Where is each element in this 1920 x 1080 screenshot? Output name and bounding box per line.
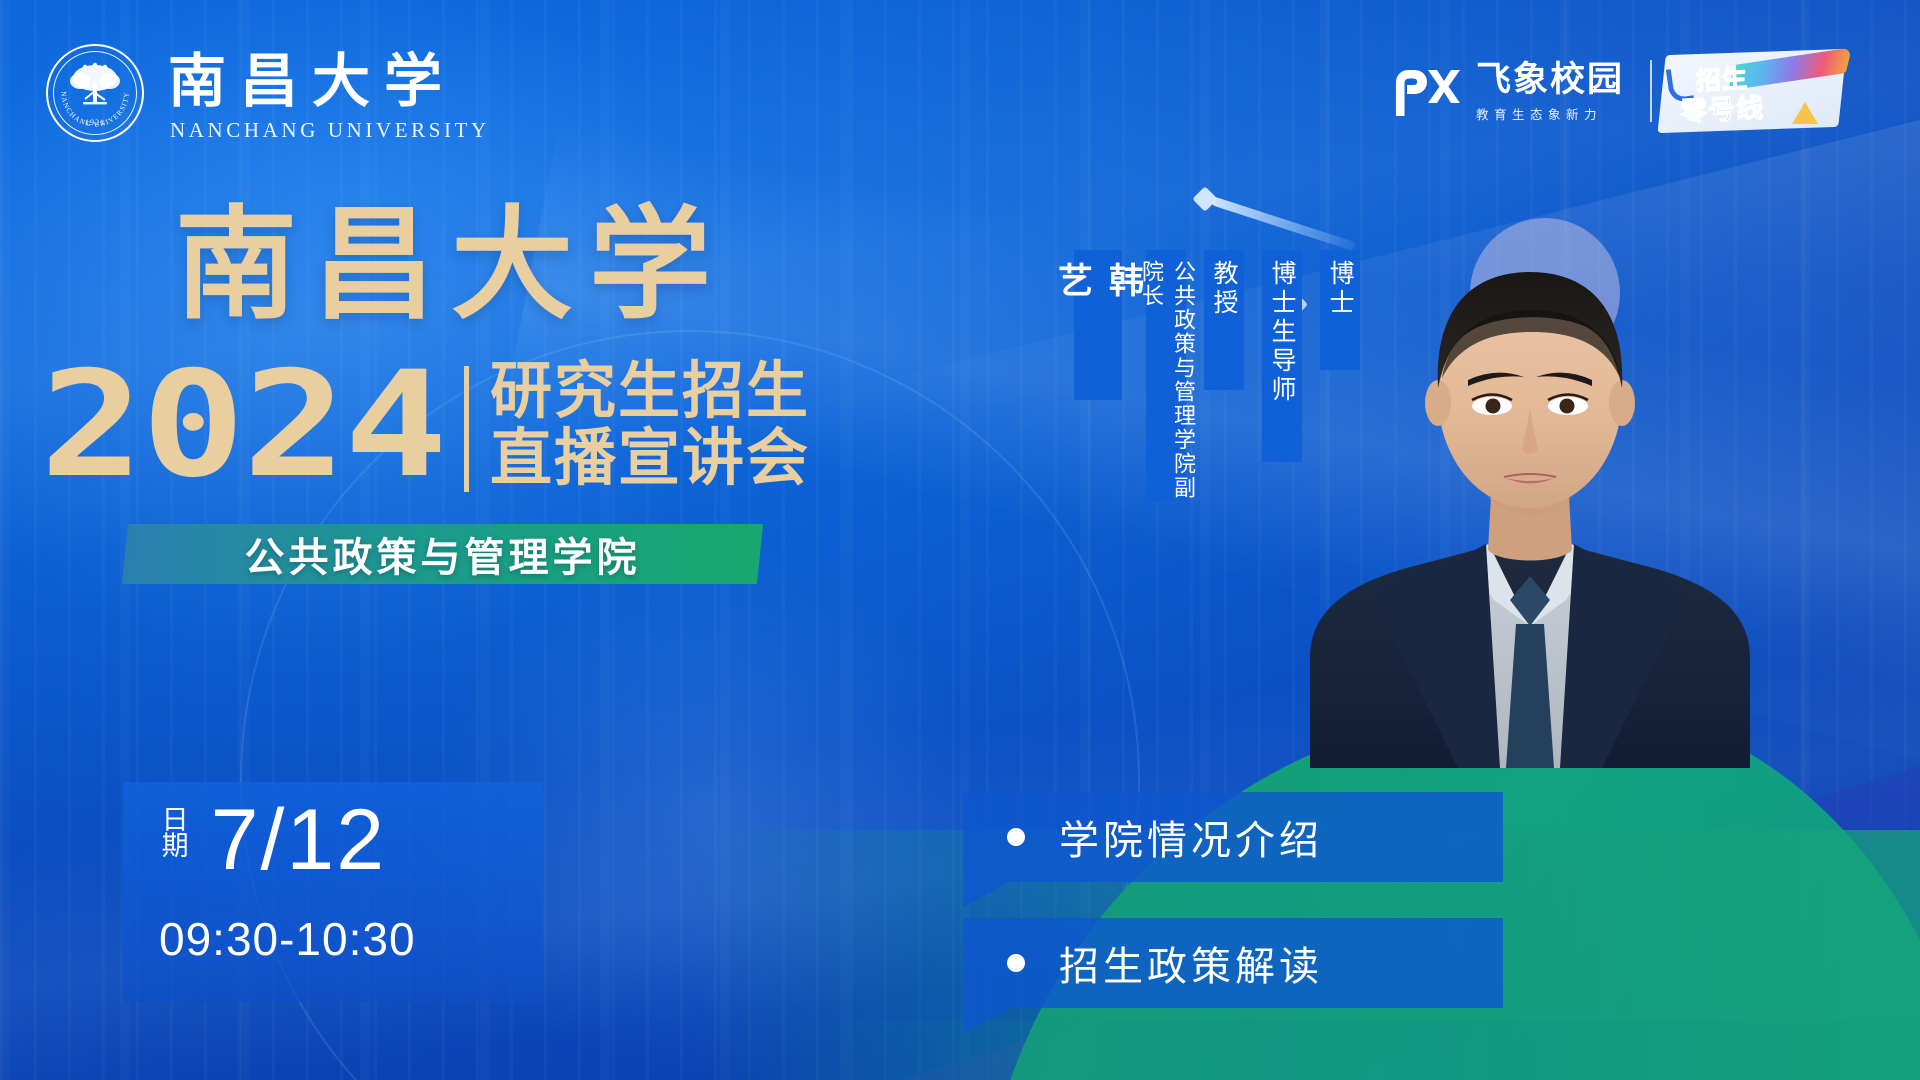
agenda-item-2: 招生政策解读 bbox=[963, 918, 1503, 1008]
university-name-cn: 南昌大学 bbox=[168, 52, 456, 110]
university-name-en: NANCHANG UNIVERSITY bbox=[170, 118, 490, 143]
speaker-tag-title: 教授 bbox=[1204, 250, 1244, 390]
agenda-item-label: 学院情况介绍 bbox=[1059, 808, 1323, 866]
bullet-dot-icon bbox=[1007, 828, 1025, 846]
headline-main: 南昌大学 bbox=[175, 204, 727, 326]
speaker-portrait bbox=[1310, 228, 1750, 768]
partner-name: 飞象校园 bbox=[1476, 62, 1624, 99]
partner-text: 飞象校园 教育生态象新力 bbox=[1476, 62, 1624, 123]
seal-circular-text: NANCHANG UNIVERSITY bbox=[48, 46, 142, 140]
poster-canvas: 1921 NANCHANG UNIVERSITY 南昌大学 NANCHANG U… bbox=[0, 0, 1920, 1080]
college-name: 公共政策与管理学院 bbox=[125, 524, 760, 584]
schedule-box: 日期 7/12 09:30-10:30 bbox=[123, 782, 543, 1002]
speaker-name-tag: 韩 艺 bbox=[1074, 250, 1122, 400]
background-bottom-teal bbox=[0, 1020, 1920, 1080]
college-banner: 公共政策与管理学院 bbox=[122, 524, 763, 584]
speaker-tag-supervisor: 博士生导师 bbox=[1262, 250, 1302, 462]
agenda-item-1: 学院情况介绍 bbox=[963, 792, 1503, 882]
headline-separator bbox=[464, 366, 469, 492]
headline-subtitle: 研究生招生 直播宣讲会 bbox=[490, 358, 810, 492]
header-divider bbox=[1650, 60, 1652, 122]
schedule-date-row: 日期 7/12 bbox=[159, 802, 386, 879]
headline-subtitle-line2: 直播宣讲会 bbox=[490, 425, 810, 492]
partner-slogan: 教育生态象新力 bbox=[1476, 104, 1624, 123]
schedule-date-label: 日期 bbox=[159, 805, 185, 877]
partner-logo: 飞象校园 教育生态象新力 bbox=[1388, 62, 1624, 123]
zhaosheng-linghao-badge: 招生 零号线 bbox=[1662, 52, 1842, 130]
schedule-date: 7/12 bbox=[211, 802, 386, 879]
agenda-item-label: 招生政策解读 bbox=[1059, 934, 1323, 992]
headline-year: 2024 bbox=[40, 352, 445, 498]
speaker-tag-position: 公共政策与管理学院副院长 bbox=[1146, 250, 1186, 502]
headline-subtitle-line1: 研究生招生 bbox=[490, 358, 810, 425]
feixiang-logo-icon bbox=[1388, 66, 1462, 118]
schedule-time: 09:30-10:30 bbox=[159, 912, 416, 966]
university-seal-logo: 1921 NANCHANG UNIVERSITY bbox=[46, 44, 144, 142]
speaker-portrait-image bbox=[1310, 228, 1750, 768]
svg-text:NANCHANG UNIVERSITY: NANCHANG UNIVERSITY bbox=[59, 91, 130, 129]
badge-line2: 零号线 bbox=[1679, 86, 1765, 129]
bullet-dot-icon bbox=[1007, 954, 1025, 972]
